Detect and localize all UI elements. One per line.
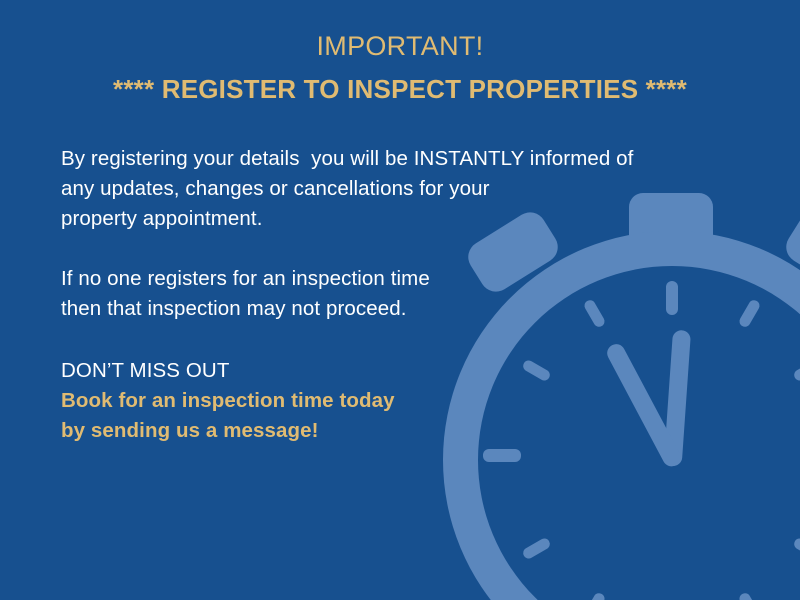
cta-book-inspection: Book for an inspection time today [61, 386, 721, 416]
page-title: IMPORTANT! [0, 30, 800, 64]
paragraph-line: property appointment. [61, 204, 721, 234]
paragraph-no-registration-warning: If no one registers for an inspection ti… [61, 264, 721, 324]
page-subtitle: **** REGISTER TO INSPECT PROPERTIES **** [0, 73, 800, 107]
paragraph-registering-details: By registering your details you will be … [61, 144, 721, 234]
call-to-action-block: DON’T MISS OUT Book for an inspection ti… [61, 356, 721, 446]
cta-send-message: by sending us a message! [61, 416, 721, 446]
promo-slide: IMPORTANT! **** REGISTER TO INSPECT PROP… [0, 0, 800, 600]
paragraph-line: If no one registers for an inspection ti… [61, 264, 721, 294]
slide-content: IMPORTANT! **** REGISTER TO INSPECT PROP… [0, 0, 800, 600]
paragraph-line: then that inspection may not proceed. [61, 294, 721, 324]
heading-block: IMPORTANT! **** REGISTER TO INSPECT PROP… [0, 0, 800, 107]
cta-dont-miss-out: DON’T MISS OUT [61, 356, 721, 386]
body-text-block: By registering your details you will be … [61, 144, 721, 446]
paragraph-line: any updates, changes or cancellations fo… [61, 174, 721, 204]
paragraph-line: By registering your details you will be … [61, 144, 721, 174]
